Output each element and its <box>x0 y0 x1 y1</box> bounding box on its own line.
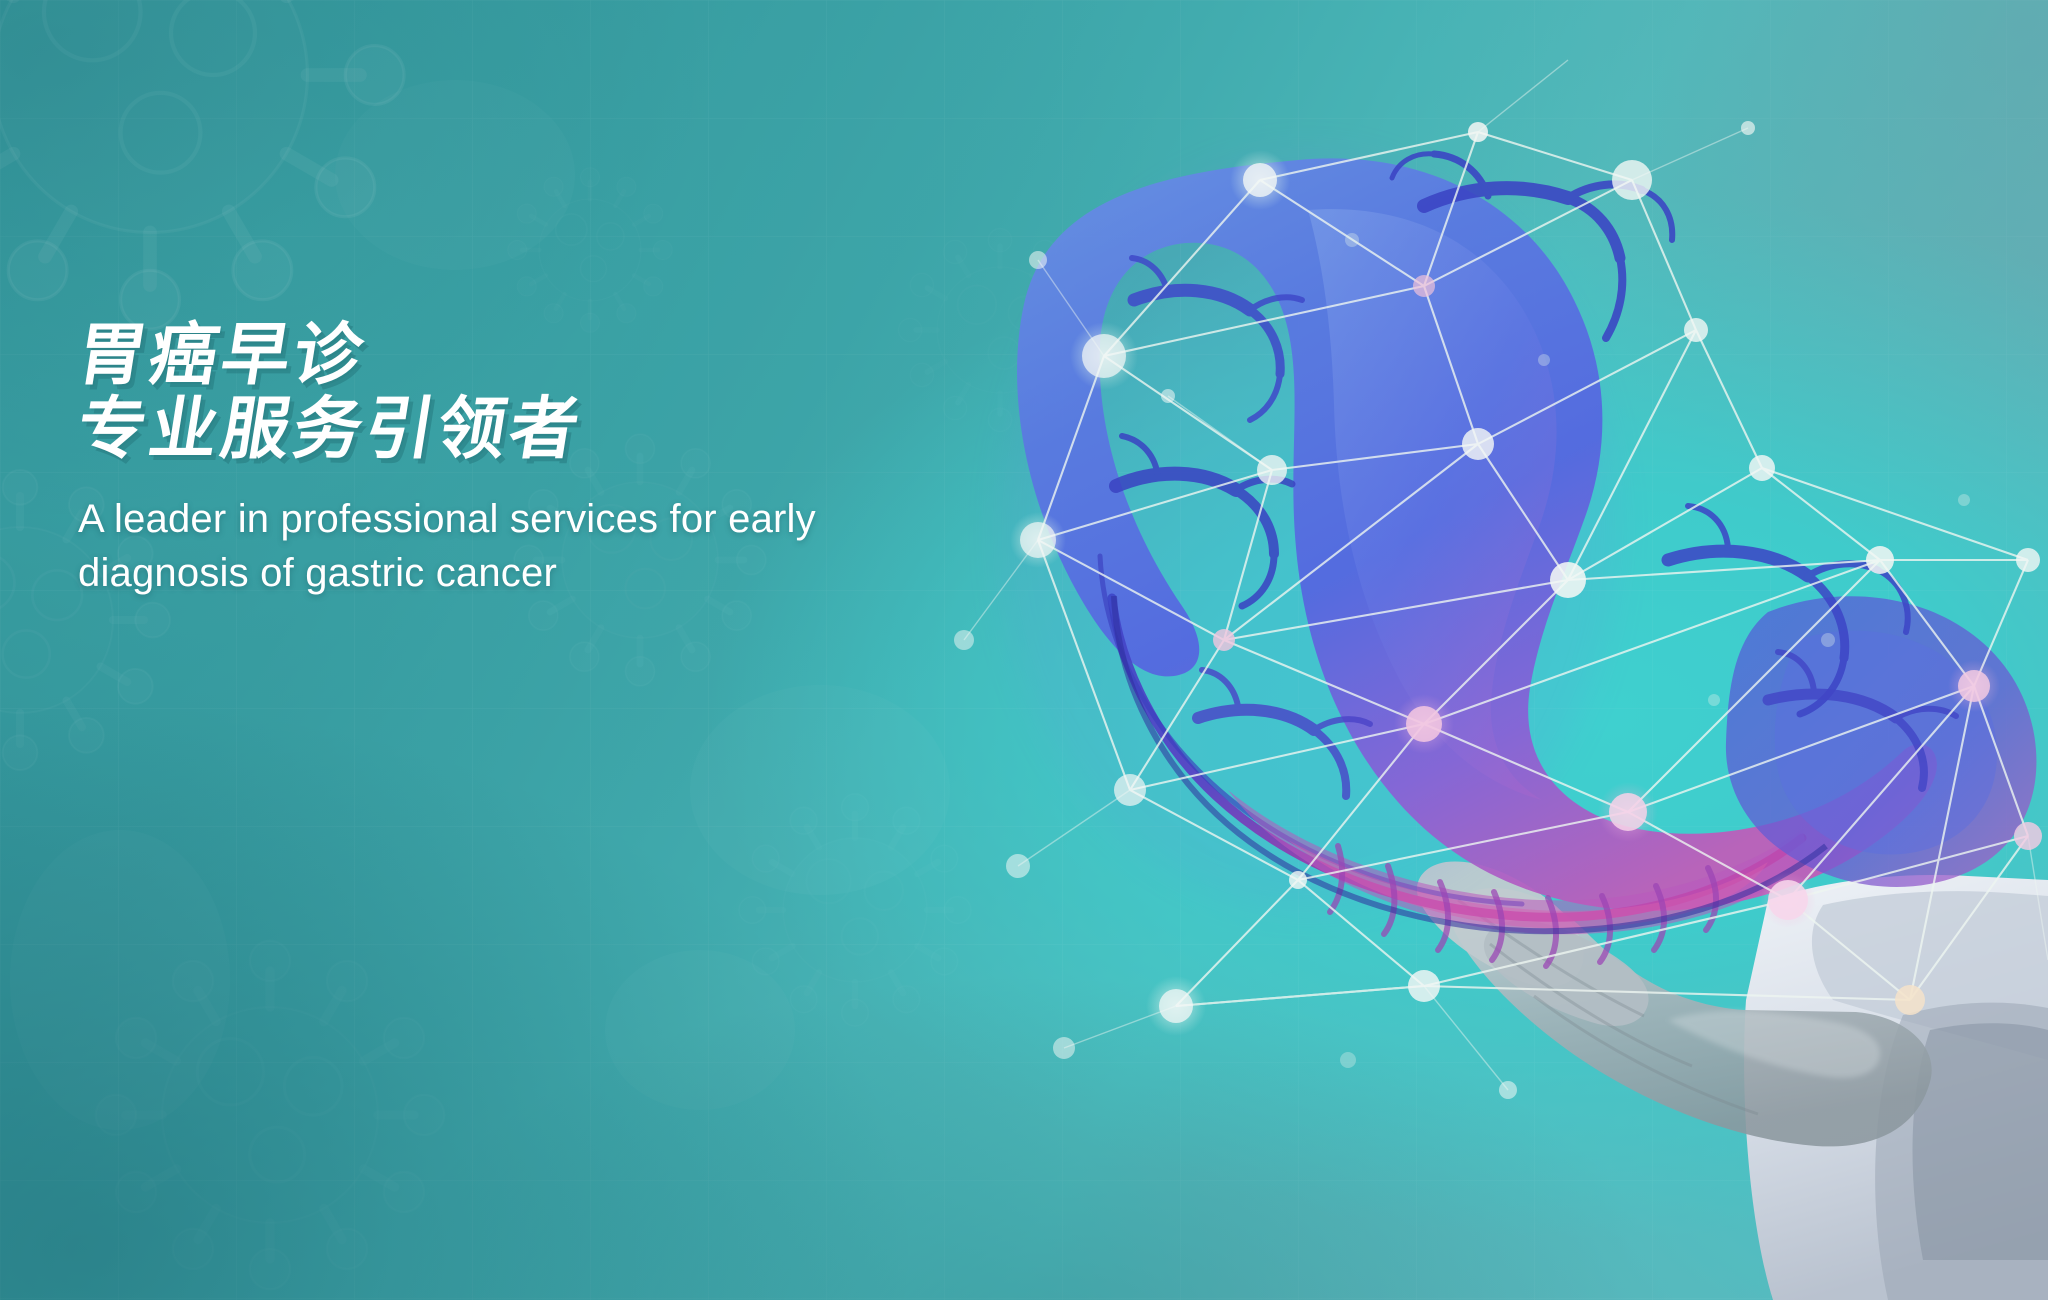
subtitle-line-2: diagnosis of gastric cancer <box>78 546 958 600</box>
headline-line-1: 胃癌早诊 <box>72 318 964 392</box>
headline-line-2: 专业服务引领者 <box>72 392 964 466</box>
hero-banner: 胃癌早诊 专业服务引领者 A leader in professional se… <box>0 0 2048 1300</box>
subtitle-line-1: A leader in professional services for ea… <box>78 492 958 546</box>
stomach-illustration <box>868 0 2048 1300</box>
hero-text-block: 胃癌早诊 专业服务引领者 A leader in professional se… <box>78 318 958 600</box>
